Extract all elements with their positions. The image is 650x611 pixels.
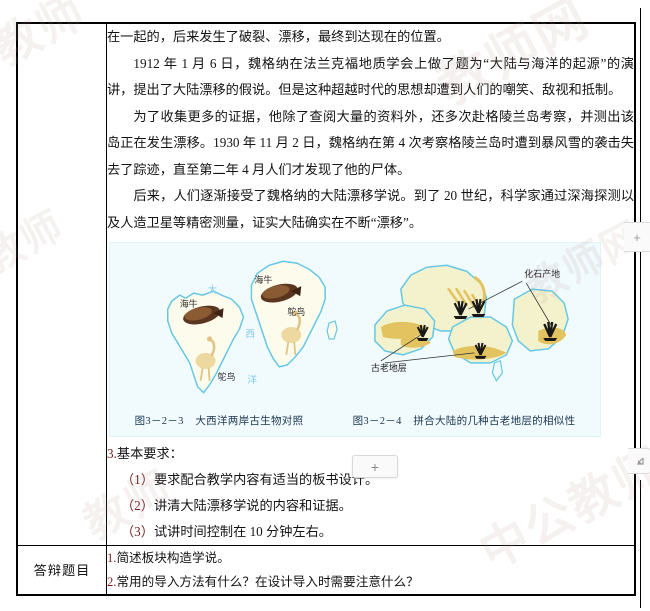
caption-left: 图3－2－3 大西洋两岸古生物对照 [135,413,304,428]
caption-right-number: 图3－2－4 [353,416,402,427]
label-ancient-strata: 古老地层 [371,362,407,373]
paragraph-1: 在一起的，后来发生了破裂、漂移，最终到达现在的位置。 [107,24,634,51]
requirement-marker: （1） [121,472,154,487]
caption-right-text: 拼合大陆的几种古老地层的相似性 [413,416,575,427]
caption-right: 图3－2－4 拼合大陆的几种古老地层的相似性 [353,413,576,428]
add-row-button[interactable]: + [352,455,398,478]
defense-content-cell: 1.简述板块构造学说。 2.常用的导入方法有什么？在设计导入时需要注意什么？ [107,546,635,595]
requirement-text: 讲清大陆漂移学说的内容和证据。 [154,498,352,513]
requirement-item: （3）试讲时间控制在 10 分钟左右。 [107,519,634,545]
defense-label-cell: 答辩题目 [18,546,107,595]
requirement-text: 要求配合教学内容有适当的板书设计。 [154,472,378,487]
defense-question: 1.简述板块构造学说。 [107,546,634,570]
label-manatee-sa: 海牛 [180,298,198,309]
figure-container: 海牛 海牛 鸵鸟 鸵鸟 大 西 洋 [109,242,601,437]
label-manatee-af: 海牛 [254,274,272,285]
ocean-label-3: 洋 [247,374,257,386]
label-ostrich-af: 鸵鸟 [287,306,305,317]
document-table: 在一起的，后来发生了破裂、漂移，最终到达现在的位置。 1912 年 1 月 6 … [16,22,636,596]
defense-question-text: 常用的导入方法有什么？在设计导入时需要注意什么？ [116,575,418,589]
requirement-marker: （3） [121,524,154,539]
defense-label: 答辩题目 [34,563,91,578]
page-edge-rule-bottom [640,480,641,608]
ocean-label-1: 大 [208,284,218,296]
paragraph-3: 为了收集更多的证据，他除了查阅大量的资料外，还多次赴格陵兰岛考察，并测出该岛正在… [107,104,634,184]
resize-corner-icon[interactable] [628,448,650,474]
caption-left-number: 图3－2－3 [135,416,184,427]
figure-captions: 图3－2－3 大西洋两岸古生物对照 图3－2－4 拼合大陆的几种古老地层的相似性 [110,413,600,436]
table-row-content: 在一起的，后来发生了破裂、漂移，最终到达现在的位置。 1912 年 1 月 6 … [18,24,635,546]
requirement-marker: （2） [121,498,154,513]
continental-drift-figure: 海牛 海牛 鸵鸟 鸵鸟 大 西 洋 [110,243,600,413]
paragraph-4: 后来，人们逐渐接受了魏格纳的大陆漂移学说。到了 20 世纪，科学家通过深海探测以… [107,183,634,236]
requirements-heading-number: 3. [107,446,117,461]
defense-question: 2.常用的导入方法有什么？在设计导入时需要注意什么？ [107,570,634,594]
caption-left-text: 大西洋两岸古生物对照 [195,416,303,427]
label-fossil-site: 化石产地 [524,268,560,279]
label-cell-empty [18,24,107,546]
requirement-text: 试讲时间控制在 10 分钟左右。 [154,524,332,539]
requirement-item: （2）讲清大陆漂移学说的内容和证据。 [107,493,634,519]
label-ostrich-sa: 鸵鸟 [218,371,236,382]
requirements-heading-text: 基本要求： [117,446,183,461]
defense-question-text: 简述板块构造学说。 [116,551,229,565]
paragraph-2: 1912 年 1 月 6 日，魏格纳在法兰克福地质学会上做了题为“大陆与海洋的起… [107,51,634,104]
side-add-column-button[interactable]: + [624,222,650,252]
table-row-defense: 答辩题目 1.简述板块构造学说。 2.常用的导入方法有什么？在设计导入时需要注意… [18,546,635,595]
ocean-label-2: 西 [245,329,254,340]
